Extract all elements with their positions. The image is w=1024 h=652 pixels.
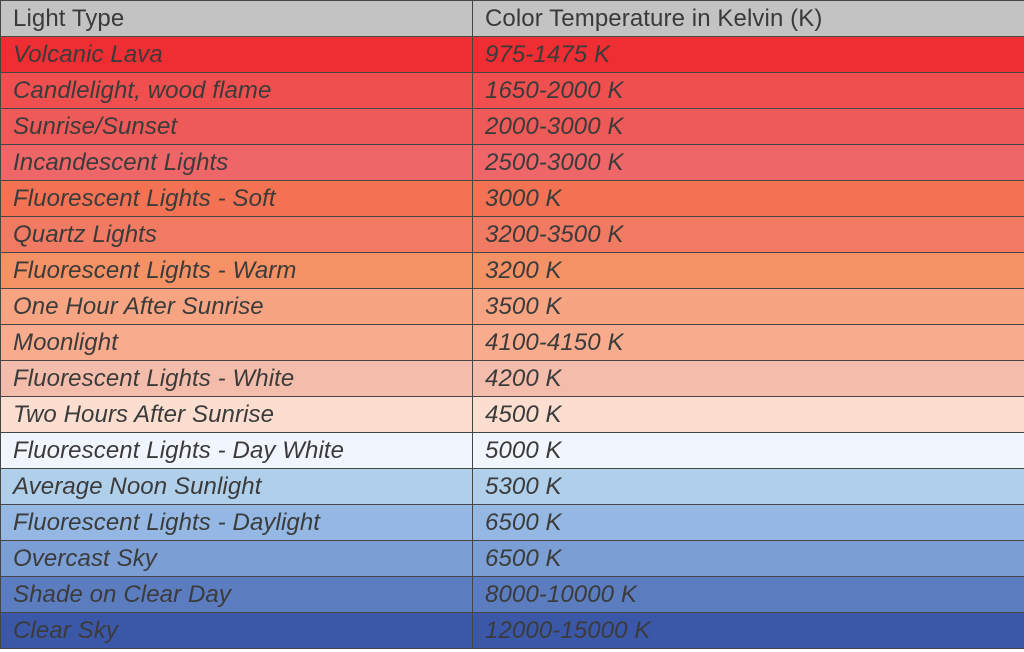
cell-color-temperature: 3200 K <box>473 253 1024 289</box>
table-row: Fluorescent Lights - Daylight6500 K <box>1 505 1024 541</box>
table-row: Shade on Clear Day8000-10000 K <box>1 577 1024 613</box>
cell-color-temperature: 4100-4150 K <box>473 325 1024 361</box>
cell-color-temperature: 975-1475 K <box>473 37 1024 73</box>
cell-color-temperature: 5000 K <box>473 433 1024 469</box>
table-row: Sunrise/Sunset2000-3000 K <box>1 109 1024 145</box>
cell-color-temperature: 6500 K <box>473 505 1024 541</box>
table-row: Moonlight4100-4150 K <box>1 325 1024 361</box>
table-row: Candlelight, wood flame1650-2000 K <box>1 73 1024 109</box>
table-body: Volcanic Lava975-1475 KCandlelight, wood… <box>1 37 1024 649</box>
cell-light-type: Quartz Lights <box>1 217 473 253</box>
cell-color-temperature: 4200 K <box>473 361 1024 397</box>
column-header-color-temperature: Color Temperature in Kelvin (K) <box>473 1 1024 37</box>
cell-light-type: Fluorescent Lights - Warm <box>1 253 473 289</box>
table-row: Two Hours After Sunrise4500 K <box>1 397 1024 433</box>
table-row: Overcast Sky6500 K <box>1 541 1024 577</box>
cell-light-type: Fluorescent Lights - Soft <box>1 181 473 217</box>
table-row: Fluorescent Lights - Warm3200 K <box>1 253 1024 289</box>
cell-light-type: Two Hours After Sunrise <box>1 397 473 433</box>
cell-color-temperature: 2000-3000 K <box>473 109 1024 145</box>
cell-light-type: Shade on Clear Day <box>1 577 473 613</box>
cell-light-type: Fluorescent Lights - White <box>1 361 473 397</box>
cell-color-temperature: 1650-2000 K <box>473 73 1024 109</box>
table-row: Clear Sky12000-15000 K <box>1 613 1024 649</box>
header-row: Light Type Color Temperature in Kelvin (… <box>1 1 1024 37</box>
table-row: Volcanic Lava975-1475 K <box>1 37 1024 73</box>
table-row: Quartz Lights3200-3500 K <box>1 217 1024 253</box>
cell-light-type: One Hour After Sunrise <box>1 289 473 325</box>
cell-light-type: Candlelight, wood flame <box>1 73 473 109</box>
cell-color-temperature: 8000-10000 K <box>473 577 1024 613</box>
cell-light-type: Incandescent Lights <box>1 145 473 181</box>
cell-light-type: Fluorescent Lights - Daylight <box>1 505 473 541</box>
table-row: Average Noon Sunlight5300 K <box>1 469 1024 505</box>
cell-light-type: Average Noon Sunlight <box>1 469 473 505</box>
cell-color-temperature: 5300 K <box>473 469 1024 505</box>
cell-color-temperature: 12000-15000 K <box>473 613 1024 649</box>
column-header-light-type: Light Type <box>1 1 473 37</box>
cell-color-temperature: 3500 K <box>473 289 1024 325</box>
light-type-color-temperature-table: Light Type Color Temperature in Kelvin (… <box>0 0 1024 649</box>
table-row: One Hour After Sunrise3500 K <box>1 289 1024 325</box>
cell-color-temperature: 4500 K <box>473 397 1024 433</box>
cell-light-type: Volcanic Lava <box>1 37 473 73</box>
table-header: Light Type Color Temperature in Kelvin (… <box>1 1 1024 37</box>
cell-color-temperature: 3000 K <box>473 181 1024 217</box>
table-row: Fluorescent Lights - Day White5000 K <box>1 433 1024 469</box>
cell-light-type: Moonlight <box>1 325 473 361</box>
cell-color-temperature: 2500-3000 K <box>473 145 1024 181</box>
cell-light-type: Clear Sky <box>1 613 473 649</box>
cell-light-type: Sunrise/Sunset <box>1 109 473 145</box>
cell-color-temperature: 6500 K <box>473 541 1024 577</box>
table-row: Fluorescent Lights - Soft3000 K <box>1 181 1024 217</box>
cell-color-temperature: 3200-3500 K <box>473 217 1024 253</box>
cell-light-type: Fluorescent Lights - Day White <box>1 433 473 469</box>
table-row: Fluorescent Lights - White4200 K <box>1 361 1024 397</box>
table-row: Incandescent Lights2500-3000 K <box>1 145 1024 181</box>
cell-light-type: Overcast Sky <box>1 541 473 577</box>
